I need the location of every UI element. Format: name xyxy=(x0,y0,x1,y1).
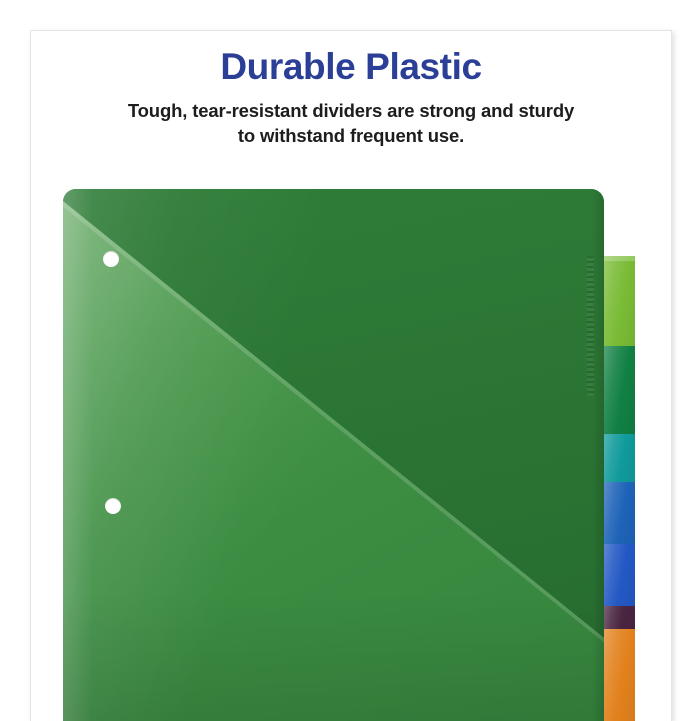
punch-hole-bottom xyxy=(105,498,121,514)
punch-hole-top xyxy=(103,251,119,267)
product-card: Durable Plastic Tough, tear-resistant di… xyxy=(30,30,672,721)
index-tab-orange xyxy=(602,629,635,721)
index-tab-royal-blue xyxy=(602,544,635,606)
green-pocket-divider xyxy=(63,189,604,721)
index-tab-purple xyxy=(602,606,635,629)
tab-sheen xyxy=(602,434,635,482)
tab-sheen xyxy=(602,256,635,346)
divider-stack xyxy=(31,31,671,721)
tab-sheen xyxy=(602,346,635,434)
tab-sheen xyxy=(602,544,635,606)
index-tab-lime xyxy=(602,256,635,346)
product-image-stage: Durable Plastic Tough, tear-resistant di… xyxy=(0,0,700,700)
index-tab-green xyxy=(602,346,635,434)
reinforcement-perforation-strip xyxy=(587,256,594,396)
index-tab-teal xyxy=(602,434,635,482)
tab-sheen xyxy=(602,606,635,629)
tab-sheen xyxy=(602,629,635,721)
index-tab-blue xyxy=(602,482,635,544)
binding-edge-shade xyxy=(63,189,93,721)
tab-sheen xyxy=(602,482,635,544)
